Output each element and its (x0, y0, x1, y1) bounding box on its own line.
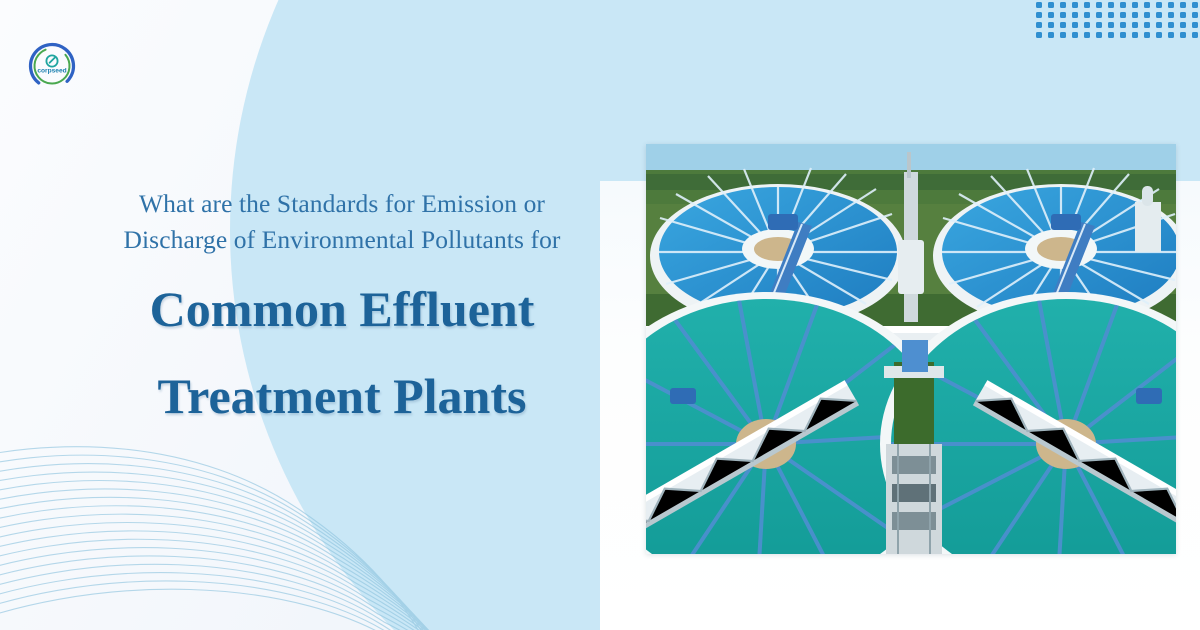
grid-dot (1156, 2, 1162, 8)
hero-headline-line2: Treatment Plants (62, 365, 622, 428)
grid-dot (1192, 12, 1198, 18)
grid-dot (1168, 22, 1174, 28)
dot-grid-decoration (1036, 2, 1200, 42)
grid-dot (1048, 22, 1054, 28)
grid-dot (1120, 2, 1126, 8)
grid-dot (1096, 12, 1102, 18)
grid-dot (1084, 12, 1090, 18)
water-treatment-plant-illustration (646, 144, 1176, 554)
grid-dot (1180, 32, 1186, 38)
grid-dot (1156, 12, 1162, 18)
grid-dot (1108, 32, 1114, 38)
grid-dot (1156, 22, 1162, 28)
grid-dot (1168, 32, 1174, 38)
grid-dot (1156, 32, 1162, 38)
grid-dot (1036, 22, 1042, 28)
grid-dot (1060, 22, 1066, 28)
grid-dot (1084, 2, 1090, 8)
grid-dot (1096, 32, 1102, 38)
grid-dot (1180, 12, 1186, 18)
grid-dot (1168, 2, 1174, 8)
grid-dot (1132, 12, 1138, 18)
grid-dot (1192, 2, 1198, 8)
grid-dot (1072, 22, 1078, 28)
grid-dot (1120, 32, 1126, 38)
grid-dot (1144, 12, 1150, 18)
hero-photo (646, 144, 1176, 554)
grid-dot (1132, 2, 1138, 8)
grid-dot (1072, 12, 1078, 18)
grid-dot (1120, 22, 1126, 28)
grid-dot (1144, 32, 1150, 38)
grid-dot (1192, 22, 1198, 28)
logo-wordmark: corpseed (37, 67, 66, 74)
grid-dot (1180, 2, 1186, 8)
grid-dot (1144, 22, 1150, 28)
grid-dot (1048, 32, 1054, 38)
grid-dot (1036, 2, 1042, 8)
grid-dot (1132, 32, 1138, 38)
grid-dot (1096, 2, 1102, 8)
grid-dot (1108, 12, 1114, 18)
grid-dot (1060, 32, 1066, 38)
grid-dot (1096, 22, 1102, 28)
hero-headline-line1: Common Effluent (150, 281, 535, 337)
hero-kicker: What are the Standards for Emission or D… (62, 186, 622, 258)
grid-dot (1036, 32, 1042, 38)
grid-dot (1060, 2, 1066, 8)
grid-dot (1072, 2, 1078, 8)
hero-kicker-line2: Discharge of Environmental Pollutants fo… (123, 225, 560, 254)
grid-dot (1120, 12, 1126, 18)
grid-dot (1168, 12, 1174, 18)
grid-dot (1084, 22, 1090, 28)
corpseed-logo[interactable]: corpseed (24, 38, 80, 94)
grid-dot (1144, 2, 1150, 8)
grid-dot (1108, 2, 1114, 8)
corpseed-logo-icon: corpseed (24, 38, 80, 94)
hero-kicker-line1: What are the Standards for Emission or (139, 189, 545, 218)
grid-dot (1084, 32, 1090, 38)
grid-dot (1072, 32, 1078, 38)
grid-dot (1180, 22, 1186, 28)
hero-banner: corpseed What are the Standards for Emis… (0, 0, 1200, 630)
hero-headline: Common Effluent Treatment Plants (62, 278, 622, 428)
hero-text-block: What are the Standards for Emission or D… (62, 186, 622, 428)
grid-dot (1048, 2, 1054, 8)
grid-dot (1060, 12, 1066, 18)
grid-dot (1108, 22, 1114, 28)
grid-dot (1192, 32, 1198, 38)
grid-dot (1048, 12, 1054, 18)
grid-dot (1132, 22, 1138, 28)
grid-dot (1036, 12, 1042, 18)
